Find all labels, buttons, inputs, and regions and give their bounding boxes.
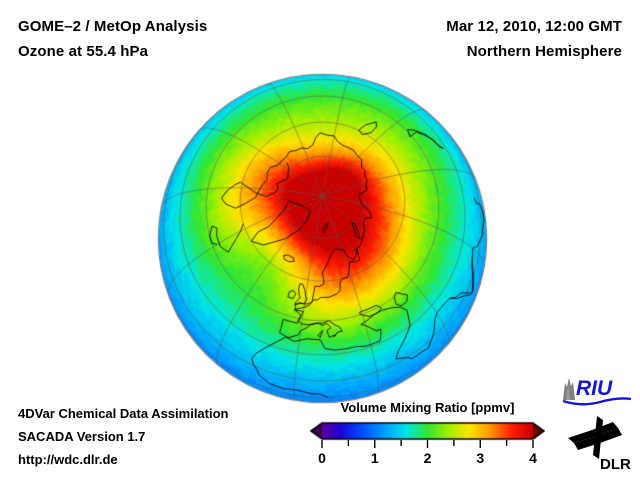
dlr-logo-svg: DLR xyxy=(566,414,634,472)
dlr-wordmark: DLR xyxy=(600,456,631,472)
figure-metadata: Mar 12, 2010, 12:00 GMT Northern Hemisph… xyxy=(446,14,622,64)
credit-version: SACADA Version 1.7 xyxy=(18,425,229,448)
timestamp-label: Mar 12, 2010, 12:00 GMT xyxy=(446,14,622,39)
colorbar-gradient xyxy=(310,420,545,442)
ozone-analysis-figure: GOME–2 / MetOp Analysis Ozone at 55.4 hP… xyxy=(0,0,640,480)
riu-logo: RIU xyxy=(560,374,634,406)
colorbar: Volume Mixing Ratio [ppmv] 01234 xyxy=(305,400,550,475)
title-line-species: Ozone at 55.4 hPa xyxy=(18,39,207,64)
credit-method: 4DVar Chemical Data Assimilation xyxy=(18,402,229,425)
credits-block: 4DVar Chemical Data Assimilation SACADA … xyxy=(18,402,229,471)
colorbar-tick-label: 2 xyxy=(413,450,443,466)
colorbar-tick-labels: 01234 xyxy=(310,440,545,470)
colorbar-title: Volume Mixing Ratio [ppmv] xyxy=(305,400,550,415)
orthographic-projection-canvas xyxy=(157,73,488,404)
globe-map xyxy=(157,73,488,404)
colorbar-tick-label: 4 xyxy=(518,450,548,466)
colorbar-tick-label: 1 xyxy=(360,450,390,466)
riu-tower-icon xyxy=(563,378,575,400)
figure-title: GOME–2 / MetOp Analysis Ozone at 55.4 hP… xyxy=(18,14,207,64)
credit-url: http://wdc.dlr.de xyxy=(18,448,229,471)
dlr-logo: DLR xyxy=(566,414,634,472)
colorbar-tick-label: 3 xyxy=(465,450,495,466)
region-label: Northern Hemisphere xyxy=(446,39,622,64)
riu-wordmark: RIU xyxy=(576,377,613,400)
dlr-propeller-icon xyxy=(568,416,622,459)
riu-logo-svg: RIU xyxy=(560,374,634,406)
colorbar-tick-label: 0 xyxy=(307,450,337,466)
title-line-instrument: GOME–2 / MetOp Analysis xyxy=(18,14,207,39)
colorbar-tick-marks xyxy=(310,440,545,450)
